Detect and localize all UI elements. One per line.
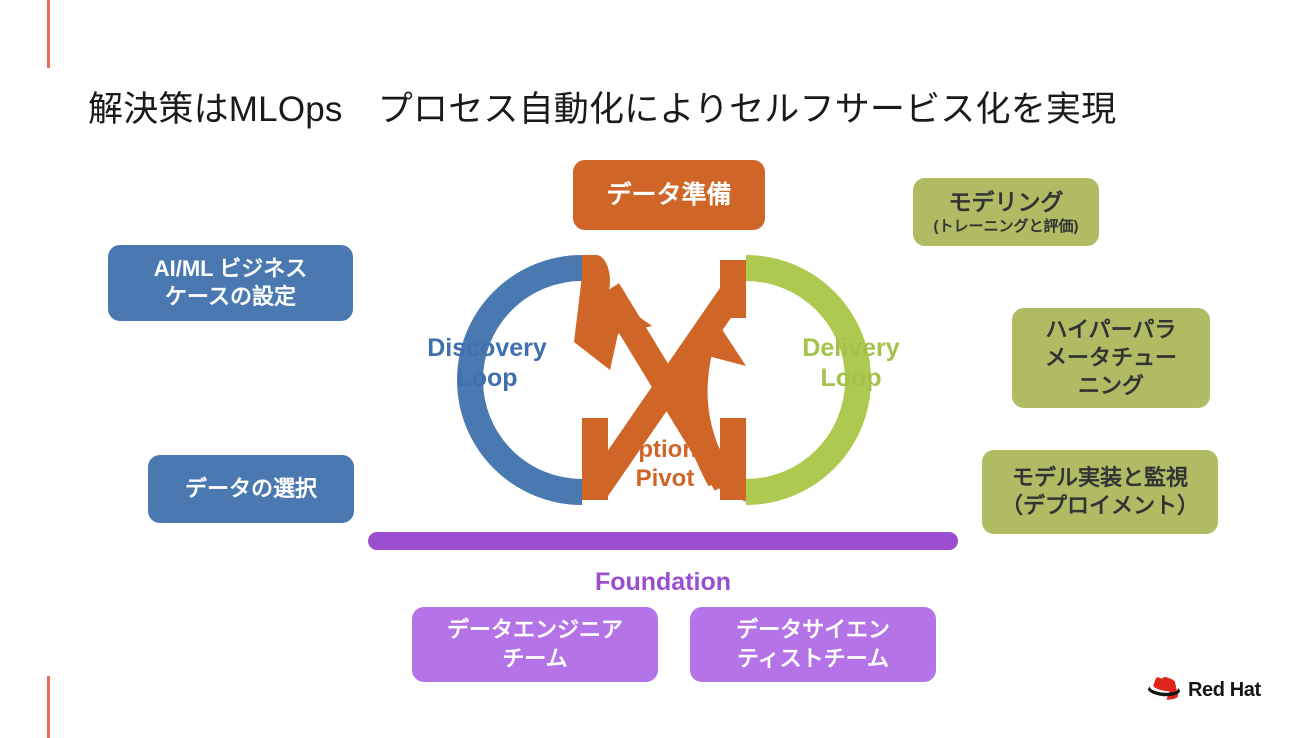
discovery-loop-label: Discovery Loop (398, 333, 576, 393)
foundation-label: Foundation (368, 568, 958, 597)
red-hat-wordmark: Red Hat (1188, 679, 1261, 702)
accent-rule-top (47, 0, 50, 68)
box-modeling[interactable]: モデリング (トレーニングと評価) (913, 178, 1099, 246)
box-data-preparation[interactable]: データ準備 (573, 160, 765, 230)
box-model-deployment[interactable]: モデル実装と監視 （デプロイメント） (982, 450, 1218, 534)
options-pivot-label: Options Pivot (586, 436, 744, 494)
page-title: 解決策はMLOps プロセス自動化によりセルフサービス化を実現 (88, 88, 1188, 132)
slide-canvas: 解決策はMLOps プロセス自動化によりセルフサービス化を実現 (0, 0, 1300, 738)
box-data-selection[interactable]: データの選択 (148, 455, 354, 523)
red-hat-logo: Red Hat (1148, 673, 1278, 707)
box-hyperparameter-tuning[interactable]: ハイパーパラ メータチュー ニング (1012, 308, 1210, 408)
accent-rule-bottom (47, 676, 50, 738)
box-data-engineer-team[interactable]: データエンジニア チーム (412, 607, 658, 682)
box-data-scientist-team[interactable]: データサイエン ティストチーム (690, 607, 936, 682)
box-ai-ml-business-case[interactable]: AI/ML ビジネス ケースの設定 (108, 245, 353, 321)
box-modeling-subtitle: (トレーニングと評価) (934, 218, 1079, 236)
box-modeling-title: モデリング (949, 188, 1064, 217)
delivery-loop-label: Delivery Loop (762, 333, 940, 393)
red-hat-fedora-icon (1148, 677, 1182, 703)
foundation-bar (368, 532, 958, 550)
